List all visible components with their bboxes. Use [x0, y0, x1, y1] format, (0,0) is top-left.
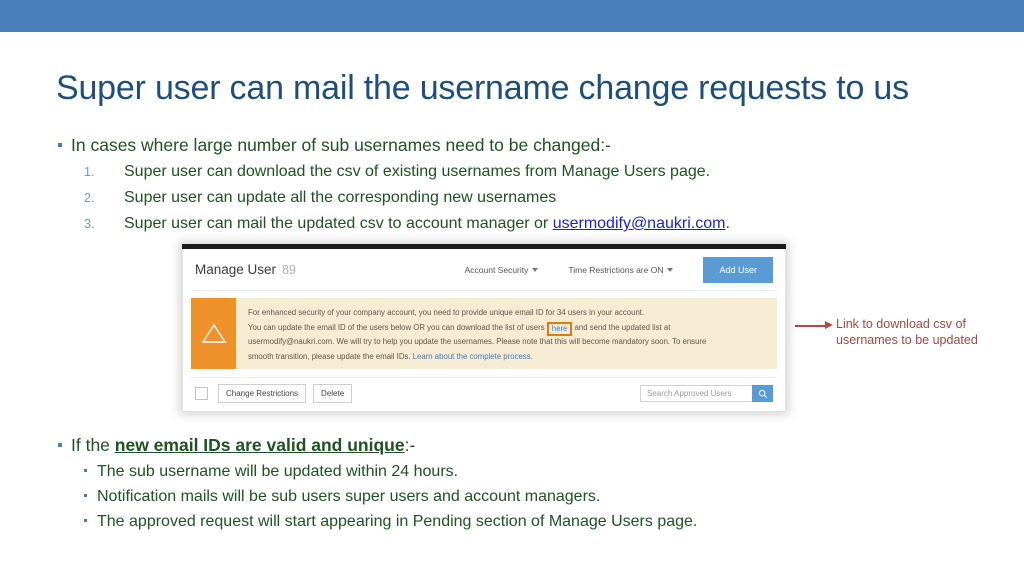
bullet-top-level1: In cases where large number of sub usern…: [58, 134, 611, 156]
search-input[interactable]: Search Approved Users: [640, 385, 752, 402]
page-title: Super user can mail the username change …: [56, 66, 996, 110]
step3-text-before: Super user can mail the updated csv to a…: [124, 215, 553, 232]
usermodify-email-link[interactable]: usermodify@naukri.com: [553, 215, 726, 232]
learn-process-link[interactable]: Learn about the complete process.: [413, 352, 533, 361]
add-user-button[interactable]: Add User: [703, 257, 773, 283]
numbered-steps-list: 1. Super user can download the csv of ex…: [84, 159, 730, 237]
banner-line-2: You can update the email ID of the users…: [248, 321, 767, 336]
search-button[interactable]: [752, 385, 773, 402]
delete-button[interactable]: Delete: [313, 384, 352, 403]
bullet-bottom-level1-text: If the new email IDs are valid and uniqu…: [71, 434, 415, 456]
search-area: Search Approved Users: [640, 385, 773, 402]
select-all-checkbox[interactable]: [195, 387, 208, 400]
bottom-sub-list: The sub username will be updated within …: [84, 459, 697, 534]
list-number: 1.: [84, 160, 124, 185]
bottom-bullet-emphasis: new email IDs are valid and unique: [115, 435, 405, 455]
list-item: The approved request will start appearin…: [84, 509, 697, 534]
banner-line2-after: and send the updated list at: [572, 323, 670, 332]
list-item: The sub username will be updated within …: [84, 459, 697, 484]
callout-annotation: Link to download csv of usernames to be …: [836, 316, 1011, 348]
manage-user-title: Manage User: [195, 262, 276, 277]
list-item-text: The sub username will be updated within …: [97, 459, 458, 484]
banner-line2-before: You can update the email ID of the users…: [248, 323, 547, 332]
time-restrictions-dropdown[interactable]: Time Restrictions are ON: [568, 265, 673, 275]
square-bullet-icon: [84, 494, 87, 497]
chevron-down-icon: [532, 268, 538, 272]
manage-user-count: 89: [282, 263, 296, 277]
list-item-text: Super user can download the csv of exist…: [124, 159, 710, 184]
callout-line-1: Link to download csv of: [836, 316, 1011, 332]
manage-user-footer: Change Restrictions Delete Search Approv…: [191, 377, 777, 409]
manage-user-header: Manage User 89 Account Security Time Res…: [191, 249, 777, 291]
banner-text: For enhanced security of your company ac…: [236, 298, 777, 369]
list-item: Notification mails will be sub users sup…: [84, 484, 697, 509]
list-number: 2.: [84, 186, 124, 211]
bottom-bullet-before: If the: [71, 435, 115, 455]
warning-triangle-icon: [191, 298, 236, 369]
list-item: 3. Super user can mail the updated csv t…: [84, 211, 730, 237]
top-accent-bar: [0, 0, 1024, 32]
list-item: 2. Super user can update all the corresp…: [84, 185, 730, 211]
change-restrictions-button[interactable]: Change Restrictions: [218, 384, 306, 403]
slide: Super user can mail the username change …: [0, 0, 1024, 576]
step3-text-after: .: [725, 215, 729, 232]
bullet-top-level1-text: In cases where large number of sub usern…: [71, 134, 611, 156]
list-item-text: The approved request will start appearin…: [97, 509, 697, 534]
embedded-screenshot: Manage User 89 Account Security Time Res…: [182, 244, 786, 412]
callout-leader-line: [795, 325, 827, 327]
square-bullet-icon: [84, 469, 87, 472]
bottom-bullet-after: :-: [405, 435, 416, 455]
list-item-text: Notification mails will be sub users sup…: [97, 484, 600, 509]
list-item-text: Super user can update all the correspond…: [124, 185, 556, 210]
here-download-link[interactable]: here: [547, 322, 573, 336]
square-bullet-icon: [84, 519, 87, 522]
banner-line-3: usermodify@naukri.com. We will try to he…: [248, 335, 767, 350]
list-item-text: Super user can mail the updated csv to a…: [124, 211, 730, 236]
account-security-dropdown[interactable]: Account Security: [465, 265, 539, 275]
banner-line-4: smooth transition, please update the ema…: [248, 350, 767, 365]
account-security-label: Account Security: [465, 265, 529, 275]
screenshot-inner: Manage User 89 Account Security Time Res…: [182, 249, 786, 412]
chevron-down-icon: [667, 268, 673, 272]
warning-triangle-svg: [201, 322, 227, 345]
security-banner: For enhanced security of your company ac…: [191, 298, 777, 369]
banner-line-1: For enhanced security of your company ac…: [248, 306, 767, 321]
banner-line4-before: smooth transition, please update the ema…: [248, 352, 413, 361]
list-item: 1. Super user can download the csv of ex…: [84, 159, 730, 185]
square-bullet-icon: [58, 443, 62, 447]
callout-arrow-icon: [825, 321, 833, 329]
magnifier-icon: [758, 389, 768, 399]
time-restrictions-label: Time Restrictions are ON: [568, 265, 663, 275]
bullet-bottom-level1: If the new email IDs are valid and uniqu…: [58, 434, 415, 456]
list-number: 3.: [84, 212, 124, 237]
callout-line-2: usernames to be updated: [836, 332, 1011, 348]
square-bullet-icon: [58, 143, 62, 147]
